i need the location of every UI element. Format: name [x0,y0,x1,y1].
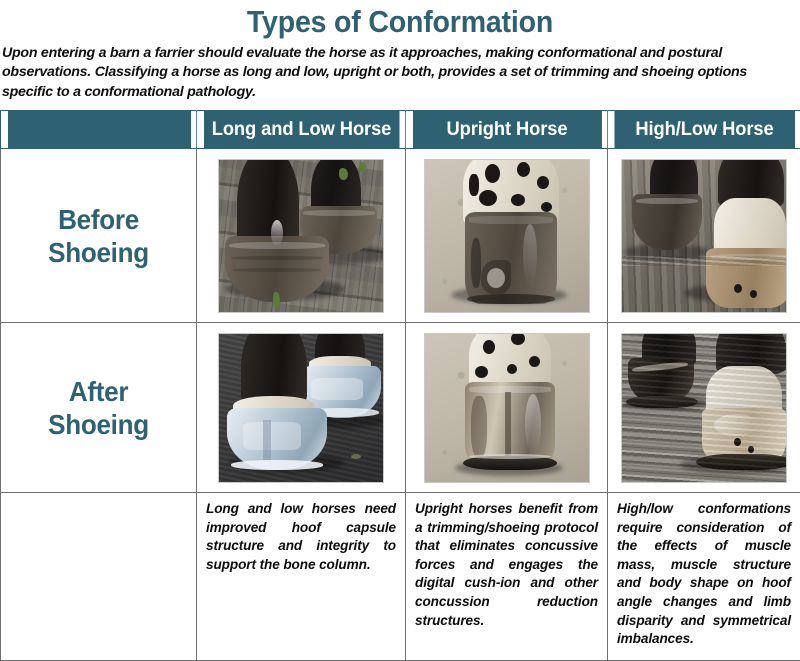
row-label-line2: Shoeing [8,408,189,441]
note-text: High/low conformations require considera… [617,500,791,649]
cell-long-low-after [197,323,406,493]
column-header-high-low: High/Low Horse [613,111,794,149]
cell-high-low-before [608,149,800,323]
row-label-before-shoeing: Before Shoeing [1,149,197,323]
photo-long-low-before [218,159,384,313]
photo-upright-after [424,333,590,483]
table-row-before-shoeing: Before Shoeing [1,149,800,323]
photo-upright-before [424,159,590,313]
row-label-line2: Shoeing [8,236,189,269]
photo-long-low-after [218,333,384,483]
photo-high-low-after [621,333,787,483]
table-header-row: Long and Low Horse Upright Horse High/Lo… [1,111,800,149]
cell-upright-after [406,323,608,493]
row-label-after-shoeing: After Shoeing [1,323,197,493]
notes-row-empty-label [1,493,197,661]
note-upright: Upright horses benefit from a trimming/s… [406,493,608,661]
intro-paragraph: Upon entering a barn a farrier should ev… [0,42,798,102]
column-header-long-and-low: Long and Low Horse [203,111,399,149]
row-label-line1: After [8,375,189,408]
table-row-notes: Long and low horses need improved hoof c… [1,493,800,661]
photo-high-low-before [621,159,787,313]
page-title: Types of Conformation [32,0,768,42]
column-header-upright: Upright Horse [412,111,602,149]
note-long-and-low: Long and low horses need improved hoof c… [197,493,406,661]
conformation-table: Long and Low Horse Upright Horse High/Lo… [0,110,800,661]
row-label-line1: Before [8,203,189,236]
note-high-low: High/low conformations require considera… [608,493,800,661]
note-text: Upright horses benefit from a trimming/s… [415,500,598,630]
cell-upright-before [406,149,608,323]
table-row-after-shoeing: After Shoeing [1,323,800,493]
infographic-page: Types of Conformation Upon entering a ba… [0,0,800,661]
note-text: Long and low horses need improved hoof c… [206,500,396,574]
cell-high-low-after [608,323,800,493]
cell-long-low-before [197,149,406,323]
table-corner-cell [6,111,190,149]
